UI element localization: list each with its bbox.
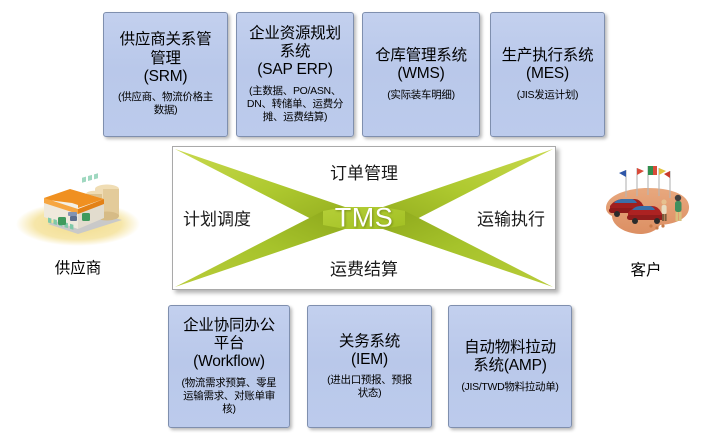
system-box-title: 仓库管理系统 (WMS) (375, 47, 467, 84)
tms-core-label: TMS (335, 203, 394, 234)
endpoint-customer-label: 客户 (590, 258, 702, 280)
tms-function-order-management: 订单管理 (330, 159, 398, 184)
tms-function-freight-settlement: 运费结算 (330, 255, 398, 280)
endpoint-customer: 客户 (590, 162, 702, 280)
endpoint-supplier: 供应商 (8, 172, 148, 278)
system-box-title: 企业资源规划 系统 (SAP ERP) (249, 25, 341, 80)
tms-function-planning-scheduling: 计划调度 (183, 205, 251, 230)
tms-core-panel: 订单管理 计划调度 运输执行 运费结算 TMS (172, 146, 556, 290)
system-box-title: 生产执行系统 (MES) (502, 47, 594, 84)
system-box-title: 自动物料拉动 系统(AMP) (464, 339, 556, 376)
system-box-title: 供应商关系管 管理 (SRM) (120, 31, 212, 86)
system-box-workflow[interactable]: 企业协同办公 平台 (Workflow) (物流需求预算、零星 运输需求、对账单… (168, 305, 290, 428)
system-box-subtitle: (物流需求预算、零星 运输需求、对账单审 核) (182, 377, 277, 416)
system-box-subtitle: (供应商、物流价格主 数据) (118, 91, 213, 117)
system-box-title: 企业协同办公 平台 (Workflow) (183, 317, 275, 372)
system-box-wms[interactable]: 仓库管理系统 (WMS) (实际装车明细) (362, 12, 480, 137)
endpoint-supplier-label: 供应商 (8, 256, 148, 278)
system-box-amp[interactable]: 自动物料拉动 系统(AMP) (JIS/TWD物料拉动单) (448, 305, 572, 428)
tms-function-transport-execution: 运输执行 (477, 205, 545, 230)
system-box-title: 关务系统 (IEM) (339, 333, 400, 370)
system-box-iem[interactable]: 关务系统 (IEM) (进出口预报、预报 状态) (307, 305, 432, 428)
system-box-subtitle: (主数据、PO/ASN、 DN、转储单、运费分 摊、运费结算) (247, 85, 343, 124)
car-dealership-icon (590, 162, 702, 252)
factory-icon (8, 172, 148, 250)
diagram-canvas: 供应商关系管 管理 (SRM) (供应商、物流价格主 数据) 企业资源规划 系统… (0, 0, 707, 433)
system-box-subtitle: (进出口预报、预报 状态) (327, 374, 412, 400)
system-box-sap-erp[interactable]: 企业资源规划 系统 (SAP ERP) (主数据、PO/ASN、 DN、转储单、… (236, 12, 354, 137)
system-box-subtitle: (实际装车明细) (387, 89, 455, 102)
system-box-subtitle: (JIS发运计划) (517, 89, 578, 102)
system-box-subtitle: (JIS/TWD物料拉动单) (461, 381, 558, 394)
system-box-srm[interactable]: 供应商关系管 管理 (SRM) (供应商、物流价格主 数据) (103, 12, 228, 137)
system-box-mes[interactable]: 生产执行系统 (MES) (JIS发运计划) (490, 12, 605, 137)
